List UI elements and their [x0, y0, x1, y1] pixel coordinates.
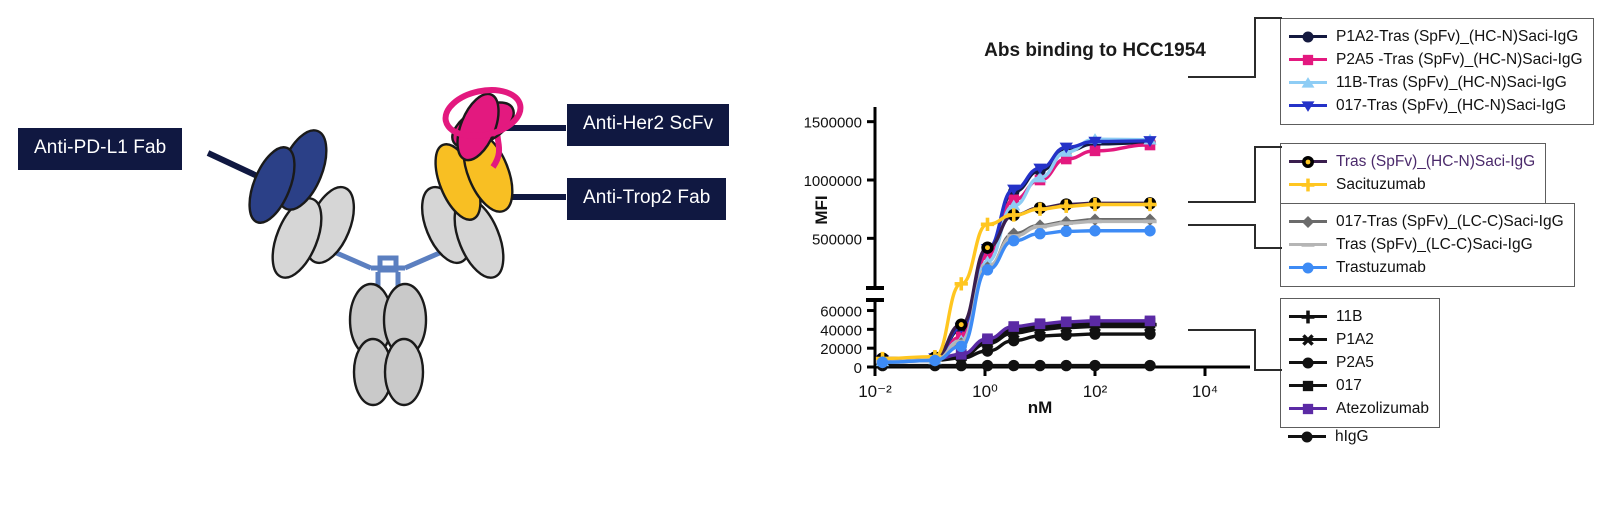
y-tick-label-lower: 60000 — [820, 304, 862, 321]
legend-item: P1A2 — [1289, 328, 1429, 351]
series-marker — [982, 333, 993, 344]
series-marker — [1061, 360, 1072, 371]
y-tick-label-lower: 20000 — [820, 341, 862, 358]
legend-marker-cross-icon — [1289, 331, 1327, 349]
series-marker — [956, 341, 967, 352]
antibody-body — [240, 84, 524, 405]
series-marker — [1088, 220, 1101, 224]
x-tick-label: 10⁴ — [1192, 382, 1218, 401]
plot-area: 50000010000001500000020000400006000010⁻²… — [780, 0, 1280, 420]
legend-item: 11B-Tras (SpFv)_(HC-N)Saci-IgG — [1289, 71, 1583, 94]
legend-item-label: Sacituzumab — [1336, 177, 1426, 193]
callout-anti-her2-scfv: Anti-Her2 ScFv — [567, 104, 729, 146]
legend-marker-square-icon — [1289, 51, 1327, 69]
legend-item: Sacituzumab — [1289, 173, 1535, 196]
legend-row-higg: hIgG — [1288, 425, 1369, 448]
series-marker — [1033, 225, 1046, 229]
series-marker — [1144, 225, 1155, 236]
series-marker — [956, 360, 967, 371]
legend-item: Trastuzumab — [1289, 256, 1564, 279]
legend-marker-circle-hole-icon — [1289, 153, 1327, 171]
legend-marker-bar-icon — [1289, 236, 1327, 254]
legend-marker-tri-up-icon — [1289, 74, 1327, 92]
series-marker — [981, 241, 993, 253]
legend-item-label: P1A2 — [1336, 332, 1374, 348]
legend-item: P2A5 — [1289, 351, 1429, 374]
series-marker — [1089, 225, 1100, 236]
series-marker — [1034, 360, 1045, 371]
series-marker — [1060, 221, 1073, 225]
legend-item-label: 017-Tras (SpFv)_(HC-N)Saci-IgG — [1336, 98, 1566, 114]
legend-box-hcn-fusions: P1A2-Tras (SpFv)_(HC-N)Saci-IgGP2A5 -Tra… — [1280, 18, 1594, 125]
legend-item: P2A5 -Tras (SpFv)_(HC-N)Saci-IgG — [1289, 48, 1583, 71]
y-tick-label-upper: 1000000 — [804, 173, 862, 190]
hinge-region — [332, 251, 444, 300]
series-marker — [1008, 335, 1019, 346]
binding-chart: Abs binding to HCC1954 MFI nM 5000001000… — [780, 0, 1600, 517]
legend-box-parental-abs: 11BP1A2P2A5017Atezolizumab — [1280, 298, 1440, 428]
legend-item: 11B — [1289, 305, 1429, 328]
series-marker — [1144, 328, 1155, 339]
series-marker — [1061, 329, 1072, 340]
y-tick-label-upper: 1500000 — [804, 115, 862, 132]
y-tick-label-lower: 0 — [854, 360, 862, 377]
plot-svg: 50000010000001500000020000400006000010⁻²… — [780, 0, 1280, 420]
series-marker — [1008, 235, 1019, 246]
legend-item: Tras (SpFv)_(HC-N)Saci-IgG — [1289, 150, 1535, 173]
legend-item-label: Trastuzumab — [1336, 260, 1426, 276]
series-marker — [1145, 316, 1156, 327]
legend-item-label: hIgG — [1335, 429, 1369, 445]
antibody-schematic: Anti-PD-L1 Fab Anti-Her2 ScFv Anti-Trop2… — [0, 0, 780, 517]
series-marker — [1008, 321, 1019, 332]
series-marker — [1034, 228, 1045, 239]
legend-item-label: 017-Tras (SpFv)_(LC-C)Saci-IgG — [1336, 214, 1564, 230]
legend-marker-square-icon — [1289, 400, 1327, 418]
legend-marker-plus-icon — [1289, 308, 1327, 326]
legend-item: P1A2-Tras (SpFv)_(HC-N)Saci-IgG — [1289, 25, 1583, 48]
x-tick-label: 10⁰ — [972, 382, 998, 401]
legend-item-label: P2A5 — [1336, 355, 1374, 371]
legend-item: 017-Tras (SpFv)_(LC-C)Saci-IgG — [1289, 210, 1564, 233]
legend-item: Tras (SpFv)_(LC-C)Saci-IgG — [1289, 233, 1564, 256]
fc-domain-right-lower — [385, 339, 423, 405]
series-marker — [1090, 316, 1101, 327]
series-marker — [982, 264, 993, 275]
legend-item-label: 017 — [1336, 378, 1362, 394]
series-marker — [1144, 360, 1155, 371]
series-marker — [1034, 330, 1045, 341]
legend-box-lcc-fusions: 017-Tras (SpFv)_(LC-C)Saci-IgGTras (SpFv… — [1280, 203, 1575, 287]
callout-anti-trop2-fab: Anti-Trop2 Fab — [567, 178, 726, 220]
legend-marker-circle-icon — [1289, 28, 1327, 46]
legend-marker-tri-dn-icon — [1289, 97, 1327, 115]
callout-anti-pdl1-fab: Anti-PD-L1 Fab — [18, 128, 182, 170]
series-marker — [1061, 317, 1072, 328]
x-tick-label: 10⁻² — [858, 382, 892, 401]
legend-item: 017-Tras (SpFv)_(HC-N)Saci-IgG — [1289, 94, 1583, 117]
y-tick-label-upper: 500000 — [812, 231, 862, 248]
antibody-diagram-svg — [0, 0, 780, 517]
legend-item-label: 11B-Tras (SpFv)_(HC-N)Saci-IgG — [1336, 75, 1567, 91]
legend-item: Atezolizumab — [1289, 397, 1429, 420]
legend-marker-square-icon — [1289, 377, 1327, 395]
legend-item: 017 — [1289, 374, 1429, 397]
series-marker — [877, 357, 888, 368]
series-marker — [982, 360, 993, 371]
legend-item-label: P2A5 -Tras (SpFv)_(HC-N)Saci-IgG — [1336, 52, 1583, 68]
series-marker — [982, 345, 993, 356]
legend-marker-plus-icon — [1289, 176, 1327, 194]
legend-marker-circle-icon — [1289, 259, 1327, 277]
series-marker — [1089, 360, 1100, 371]
legend-item: hIgG — [1288, 425, 1369, 448]
series-marker — [1143, 220, 1156, 224]
legend-item-label: Tras (SpFv)_(HC-N)Saci-IgG — [1336, 154, 1535, 170]
series-marker — [1008, 360, 1019, 371]
x-tick-label: 10² — [1083, 382, 1108, 401]
legend-marker-diamond-icon — [1289, 213, 1327, 231]
y-tick-label-lower: 40000 — [820, 322, 862, 339]
legend-marker-circle-icon — [1289, 354, 1327, 372]
legend-item-label: P1A2-Tras (SpFv)_(HC-N)Saci-IgG — [1336, 29, 1578, 45]
legend-item-label: Atezolizumab — [1336, 401, 1429, 417]
series-marker — [1035, 318, 1046, 329]
series-marker — [929, 355, 940, 366]
legend-box-controls-hcn: Tras (SpFv)_(HC-N)Saci-IgGSacituzumab — [1280, 143, 1546, 204]
series-marker — [955, 318, 967, 330]
series-marker — [1061, 226, 1072, 237]
legend-item-label: 11B — [1336, 309, 1362, 325]
legend-marker-circle-icon — [1288, 428, 1326, 446]
legend-item-label: Tras (SpFv)_(LC-C)Saci-IgG — [1336, 237, 1533, 253]
series-marker — [1089, 328, 1100, 339]
